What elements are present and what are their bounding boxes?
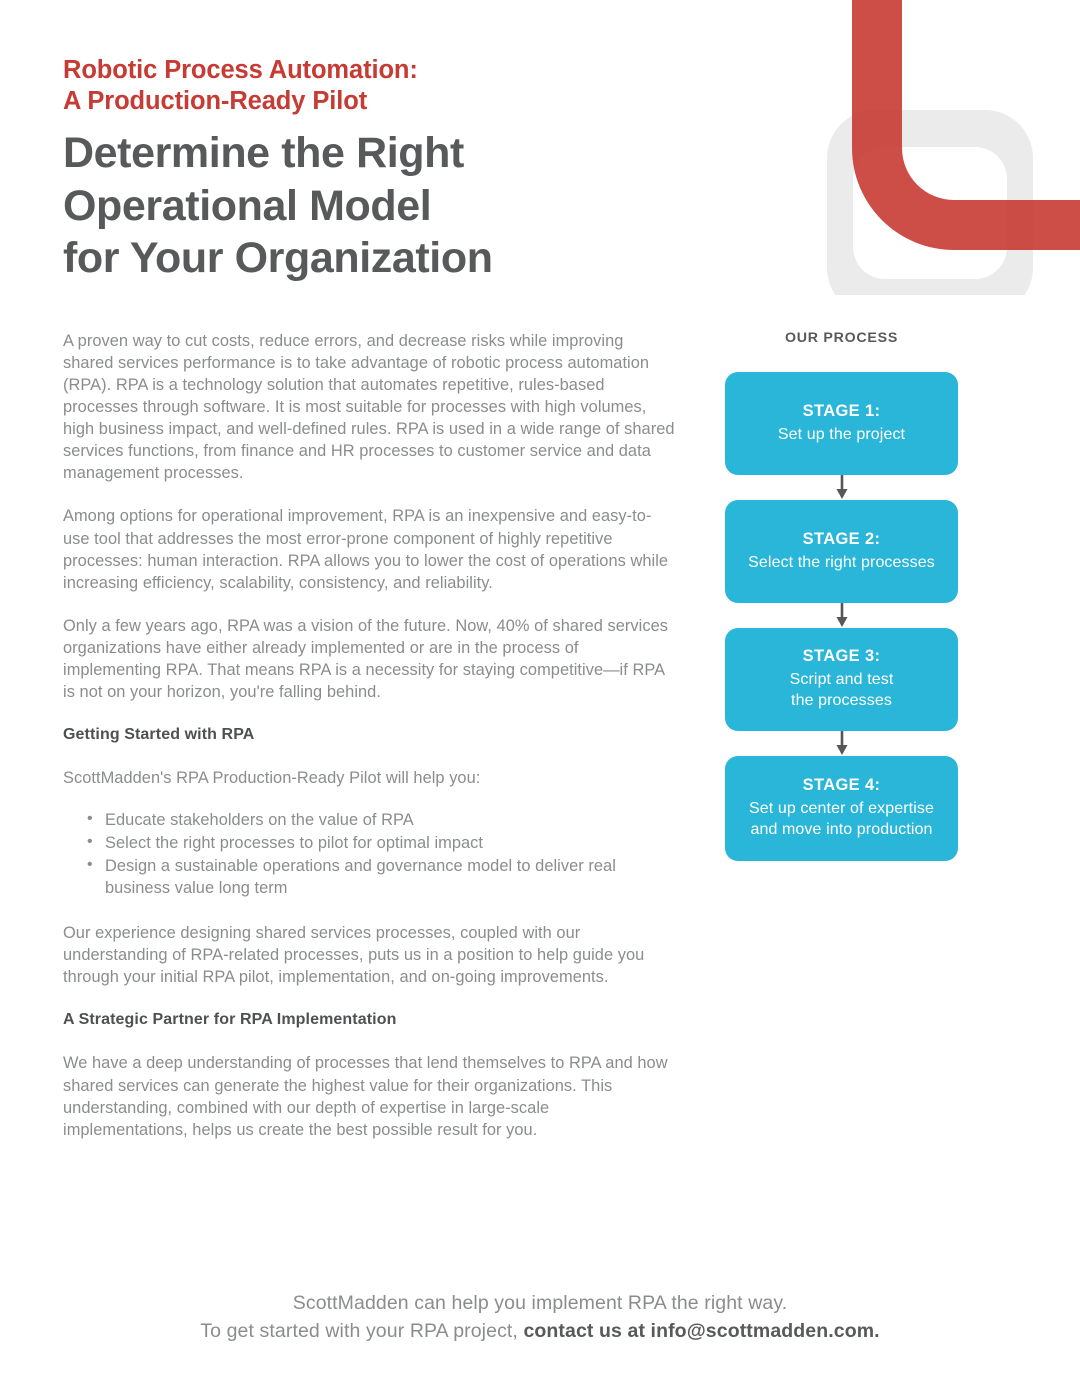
footer-line-2-prefix: To get started with your RPA project, [200, 1320, 523, 1342]
document-page: Robotic Process Automation: A Production… [0, 0, 1080, 1398]
arrow-down-icon [835, 731, 849, 756]
stage-3-description-line-1: Script and test [737, 670, 946, 691]
stage-box-2: STAGE 2: Select the right processes [725, 500, 958, 603]
stage-2-description: Select the right processes [737, 553, 946, 574]
benefits-paragraph: Among options for operational improvemen… [63, 505, 678, 593]
page-header: Robotic Process Automation: A Production… [63, 55, 703, 285]
process-flow-diagram: OUR PROCESS STAGE 1: Set up the project … [725, 330, 958, 861]
body-content: A proven way to cut costs, reduce errors… [63, 330, 678, 1162]
pilot-intro-paragraph: ScottMadden's RPA Production-Ready Pilot… [63, 767, 678, 789]
page-title: Determine the Right Operational Model fo… [63, 127, 703, 284]
stage-2-number: STAGE 2: [737, 530, 946, 549]
adoption-paragraph: Only a few years ago, RPA was a vision o… [63, 615, 678, 703]
headline-line-2: Operational Model [63, 180, 703, 232]
flow-arrow-3 [725, 731, 958, 756]
headline-line-3: for Your Organization [63, 232, 703, 284]
footer-line-1: ScottMadden can help you implement RPA t… [0, 1290, 1080, 1318]
stage-4-description-line-1: Set up center of expertise [737, 799, 946, 820]
section-heading-getting-started: Getting Started with RPA [63, 724, 678, 746]
stage-1-number: STAGE 1: [737, 402, 946, 421]
footer-contact-email: contact us at info@scottmadden.com. [523, 1320, 879, 1342]
list-item: Design a sustainable operations and gove… [87, 855, 678, 899]
arrow-down-icon [835, 475, 849, 500]
brand-mark-svg [790, 0, 1080, 295]
eyebrow-line-1: Robotic Process Automation: [63, 56, 418, 84]
flow-arrow-1 [725, 475, 958, 500]
list-item: Select the right processes to pilot for … [87, 832, 678, 854]
list-item: Educate stakeholders on the value of RPA [87, 809, 678, 831]
gray-rounded-square-icon [827, 110, 1033, 295]
stage-4-description-line-2: and move into production [737, 820, 946, 841]
headline-line-1: Determine the Right [63, 127, 703, 179]
stage-3-number: STAGE 3: [737, 647, 946, 666]
closing-paragraph: We have a deep understanding of processe… [63, 1052, 678, 1140]
section-heading-strategic-partner: A Strategic Partner for RPA Implementati… [63, 1009, 678, 1031]
footer-line-2: To get started with your RPA project, co… [0, 1318, 1080, 1346]
stage-4-number: STAGE 4: [737, 776, 946, 795]
stage-3-description-line-2: the processes [737, 691, 946, 712]
red-elbow-icon [852, 0, 1080, 250]
stage-box-4: STAGE 4: Set up center of expertise and … [725, 756, 958, 861]
arrow-down-icon [835, 603, 849, 628]
eyebrow-line-2: A Production-Ready Pilot [63, 86, 703, 117]
brand-corner-mark [790, 0, 1080, 295]
flow-arrow-2 [725, 603, 958, 628]
stage-1-description: Set up the project [737, 425, 946, 446]
page-footer: ScottMadden can help you implement RPA t… [0, 1290, 1080, 1345]
stage-box-1: STAGE 1: Set up the project [725, 372, 958, 475]
experience-paragraph: Our experience designing shared services… [63, 922, 678, 988]
process-diagram-title: OUR PROCESS [725, 330, 958, 346]
pilot-benefits-list: Educate stakeholders on the value of RPA… [63, 809, 678, 899]
intro-paragraph: A proven way to cut costs, reduce errors… [63, 330, 678, 484]
stage-box-3: STAGE 3: Script and test the processes [725, 628, 958, 731]
eyebrow-title: Robotic Process Automation: A Production… [63, 55, 703, 117]
